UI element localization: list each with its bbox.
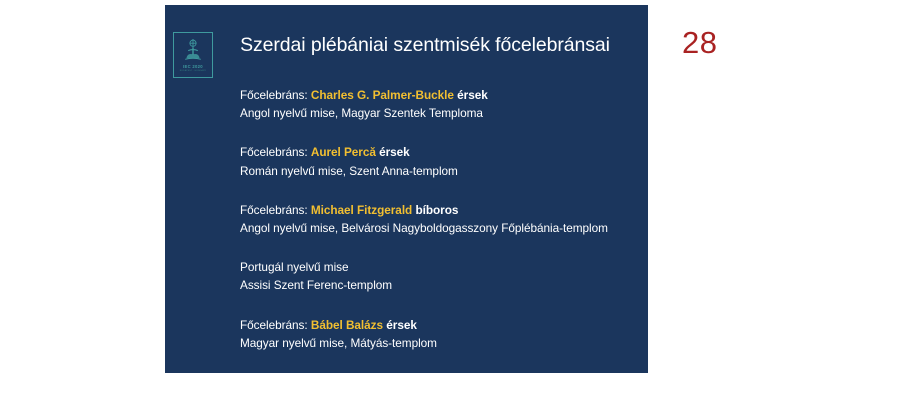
mass-detail: Assisi Szent Ferenc-templom	[240, 276, 640, 294]
mass-language-line: Portugál nyelvű mise	[240, 258, 640, 276]
mass-detail: Román nyelvű mise, Szent Anna-templom	[240, 162, 640, 180]
list-item: Főcelebráns: Bábel Balázs érsek Magyar n…	[240, 316, 640, 352]
celebrant-title: érsek	[379, 145, 410, 159]
celebrant-name: Charles G. Palmer-Buckle	[311, 88, 454, 102]
eucharist-emblem-icon	[182, 38, 204, 64]
slide-canvas: IEC 2020 BUDAPEST · HUNGARY Szerdai pléb…	[0, 0, 900, 401]
celebrant-title: érsek	[457, 88, 488, 102]
celebrant-line: Főcelebráns: Michael Fitzgerald bíboros	[240, 201, 640, 219]
celebrant-line: Főcelebráns: Charles G. Palmer-Buckle ér…	[240, 86, 640, 104]
logo-wordmark: IEC 2020	[183, 65, 203, 69]
celebrant-label: Főcelebráns:	[240, 145, 308, 159]
list-item: Portugál nyelvű mise Assisi Szent Ferenc…	[240, 258, 640, 294]
celebrant-line: Főcelebráns: Aurel Percă érsek	[240, 143, 640, 161]
list-item: Főcelebráns: Michael Fitzgerald bíboros …	[240, 201, 640, 237]
celebrant-name: Aurel Percă	[311, 145, 376, 159]
celebrant-label: Főcelebráns:	[240, 318, 308, 332]
list-item: Főcelebráns: Aurel Percă érsek Román nye…	[240, 143, 640, 179]
mass-detail: Magyar nyelvű mise, Mátyás-templom	[240, 334, 640, 352]
celebrant-line: Főcelebráns: Bábel Balázs érsek	[240, 316, 640, 334]
mass-detail: Angol nyelvű mise, Magyar Szentek Templo…	[240, 104, 640, 122]
celebrant-name: Bábel Balázs	[311, 318, 383, 332]
celebrant-label: Főcelebráns:	[240, 88, 308, 102]
page-number: 28	[682, 26, 717, 60]
celebrant-name: Michael Fitzgerald	[311, 203, 412, 217]
celebrant-title: érsek	[386, 318, 417, 332]
iec-2020-logo: IEC 2020 BUDAPEST · HUNGARY	[173, 32, 213, 78]
logo-subtitle: BUDAPEST · HUNGARY	[180, 70, 206, 72]
mass-detail: Angol nyelvű mise, Belvárosi Nagyboldoga…	[240, 219, 640, 237]
page-title: Szerdai plébániai szentmisék főcelebráns…	[225, 32, 625, 58]
celebrant-title: bíboros	[415, 203, 458, 217]
celebrant-label: Főcelebráns:	[240, 203, 308, 217]
list-item: Főcelebráns: Charles G. Palmer-Buckle ér…	[240, 86, 640, 122]
celebrant-list: Főcelebráns: Charles G. Palmer-Buckle ér…	[240, 86, 640, 352]
